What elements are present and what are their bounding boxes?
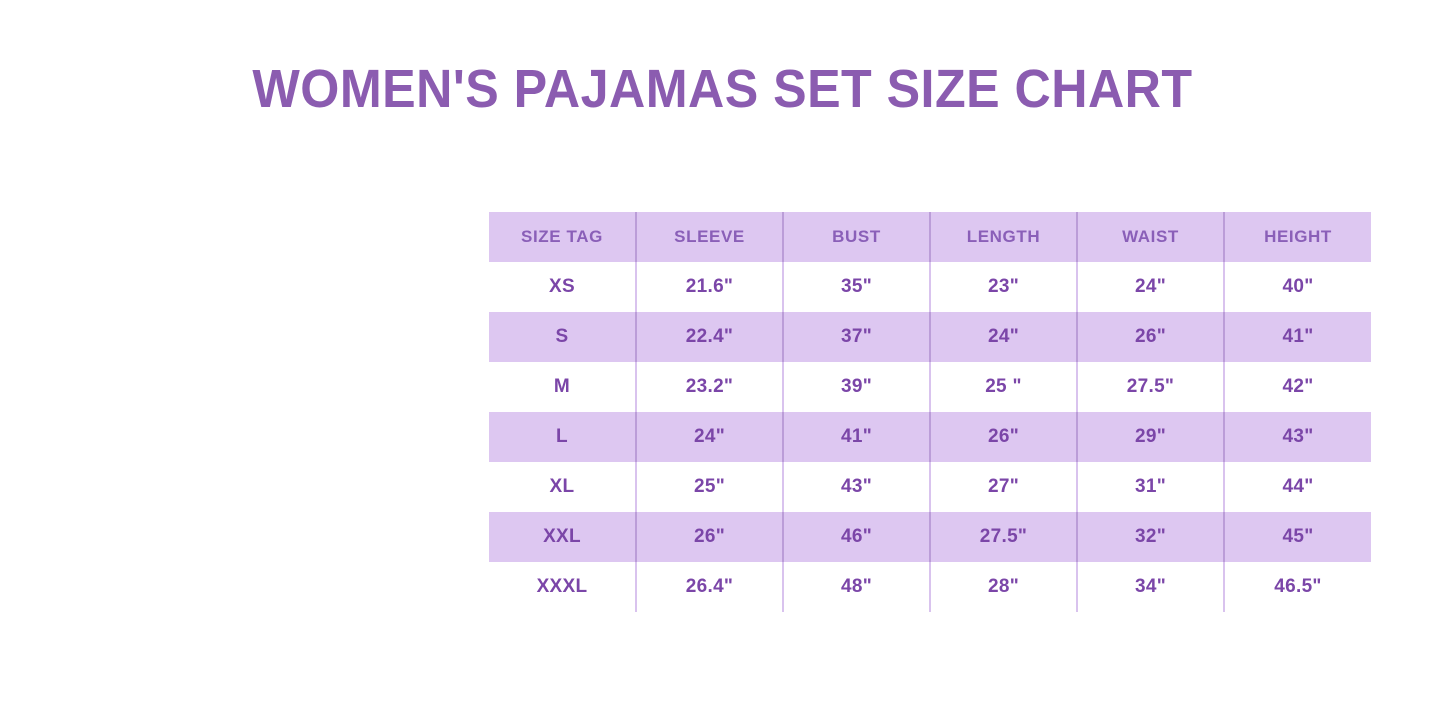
cell-waist: 29" (1077, 412, 1224, 462)
table-header: SIZE TAG SLEEVE BUST LENGTH WAIST HEIGHT (489, 212, 1371, 262)
cell-bust: 39" (783, 362, 930, 412)
cell-bust: 35" (783, 262, 930, 312)
size-chart-table: SIZE TAG SLEEVE BUST LENGTH WAIST HEIGHT… (489, 212, 1371, 612)
cell-sleeve: 23.2" (636, 362, 783, 412)
table-row: XXXL 26.4" 48" 28" 34" 46.5" (489, 562, 1371, 612)
column-header-sleeve: SLEEVE (636, 212, 783, 262)
cell-bust: 46" (783, 512, 930, 562)
cell-sleeve: 26" (636, 512, 783, 562)
cell-length: 26" (930, 412, 1077, 462)
cell-size-tag: XS (489, 262, 636, 312)
table-row: XS 21.6" 35" 23" 24" 40" (489, 262, 1371, 312)
cell-waist: 31" (1077, 462, 1224, 512)
cell-size-tag: S (489, 312, 636, 362)
cell-waist: 27.5" (1077, 362, 1224, 412)
cell-bust: 48" (783, 562, 930, 612)
cell-length: 27" (930, 462, 1077, 512)
cell-size-tag: XL (489, 462, 636, 512)
cell-height: 46.5" (1224, 562, 1371, 612)
column-header-waist: WAIST (1077, 212, 1224, 262)
table-row: XXL 26" 46" 27.5" 32" 45" (489, 512, 1371, 562)
table-row: M 23.2" 39" 25 " 27.5" 42" (489, 362, 1371, 412)
cell-waist: 34" (1077, 562, 1224, 612)
column-header-size-tag: SIZE TAG (489, 212, 636, 262)
cell-height: 40" (1224, 262, 1371, 312)
cell-bust: 41" (783, 412, 930, 462)
cell-height: 44" (1224, 462, 1371, 512)
page-title: WOMEN'S PAJAMAS SET SIZE CHART (51, 58, 1395, 120)
column-header-length: LENGTH (930, 212, 1077, 262)
cell-size-tag: M (489, 362, 636, 412)
cell-waist: 24" (1077, 262, 1224, 312)
column-header-bust: BUST (783, 212, 930, 262)
cell-sleeve: 21.6" (636, 262, 783, 312)
cell-waist: 26" (1077, 312, 1224, 362)
column-header-height: HEIGHT (1224, 212, 1371, 262)
cell-bust: 37" (783, 312, 930, 362)
table-row: L 24" 41" 26" 29" 43" (489, 412, 1371, 462)
cell-height: 42" (1224, 362, 1371, 412)
cell-height: 45" (1224, 512, 1371, 562)
size-chart-page: WOMEN'S PAJAMAS SET SIZE CHART SIZE TAG … (0, 0, 1445, 723)
cell-bust: 43" (783, 462, 930, 512)
cell-length: 27.5" (930, 512, 1077, 562)
table-header-row: SIZE TAG SLEEVE BUST LENGTH WAIST HEIGHT (489, 212, 1371, 262)
cell-length: 24" (930, 312, 1077, 362)
cell-length: 25 " (930, 362, 1077, 412)
table-row: XL 25" 43" 27" 31" 44" (489, 462, 1371, 512)
cell-sleeve: 22.4" (636, 312, 783, 362)
cell-size-tag: L (489, 412, 636, 462)
cell-sleeve: 26.4" (636, 562, 783, 612)
cell-waist: 32" (1077, 512, 1224, 562)
cell-size-tag: XXXL (489, 562, 636, 612)
cell-height: 43" (1224, 412, 1371, 462)
cell-sleeve: 24" (636, 412, 783, 462)
table-row: S 22.4" 37" 24" 26" 41" (489, 312, 1371, 362)
cell-size-tag: XXL (489, 512, 636, 562)
cell-height: 41" (1224, 312, 1371, 362)
cell-sleeve: 25" (636, 462, 783, 512)
cell-length: 23" (930, 262, 1077, 312)
table-body: XS 21.6" 35" 23" 24" 40" S 22.4" 37" 24"… (489, 262, 1371, 612)
cell-length: 28" (930, 562, 1077, 612)
size-chart-table-container: SIZE TAG SLEEVE BUST LENGTH WAIST HEIGHT… (489, 212, 1371, 612)
